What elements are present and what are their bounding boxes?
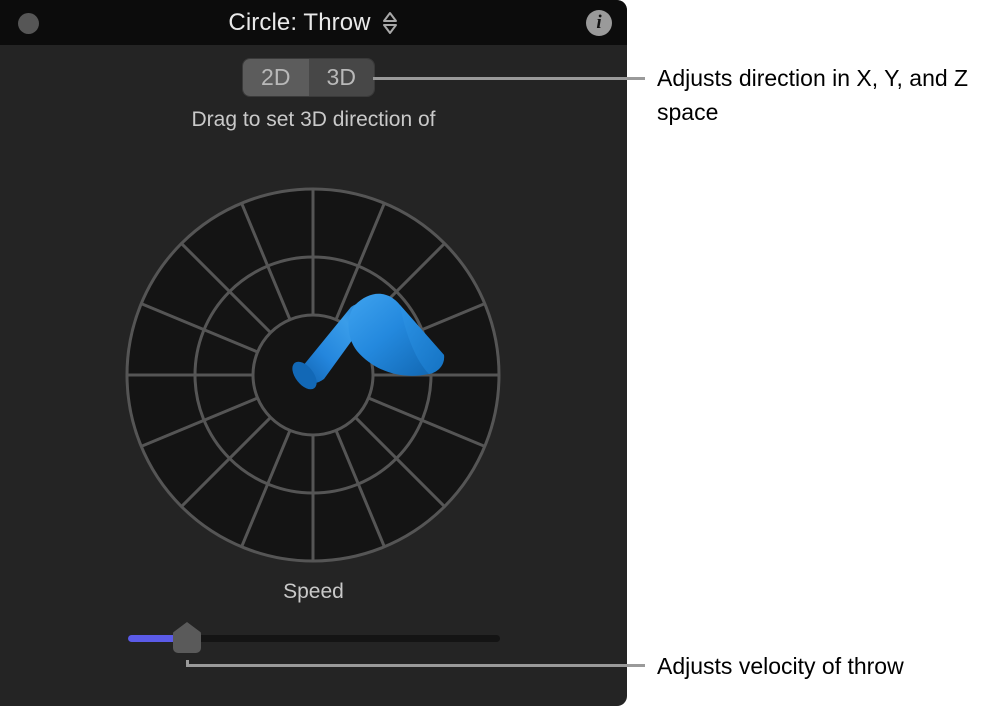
- info-icon-glyph: i: [596, 13, 601, 32]
- callout-direction: Adjusts direction in X, Y, and Z space: [657, 61, 977, 129]
- dial-instruction-label: Drag to set 3D direction of: [0, 108, 627, 132]
- speed-slider[interactable]: [128, 632, 500, 645]
- segment-2d[interactable]: 2D: [243, 59, 309, 96]
- slider-fill: [128, 635, 180, 642]
- speed-label: Speed: [0, 580, 627, 604]
- callout-velocity: Adjusts velocity of throw: [657, 649, 977, 683]
- page-title: Circle: Throw: [228, 9, 370, 37]
- dimension-segmented-control[interactable]: 2D 3D: [243, 59, 374, 96]
- inspector-panel: Circle: Throw i 2D 3D Drag to set 3D dir…: [0, 0, 627, 706]
- segment-3d[interactable]: 3D: [309, 59, 375, 96]
- chevron-up-down-icon[interactable]: [381, 10, 399, 36]
- slider-thumb[interactable]: [173, 622, 201, 653]
- info-icon[interactable]: i: [586, 10, 612, 36]
- leader-line-direction: [373, 77, 645, 80]
- close-button[interactable]: [18, 13, 39, 34]
- window-titlebar: Circle: Throw i: [0, 0, 627, 45]
- window-title-group: Circle: Throw: [0, 0, 627, 45]
- direction-dial[interactable]: [112, 174, 514, 576]
- leader-line-velocity-horizontal: [186, 664, 645, 667]
